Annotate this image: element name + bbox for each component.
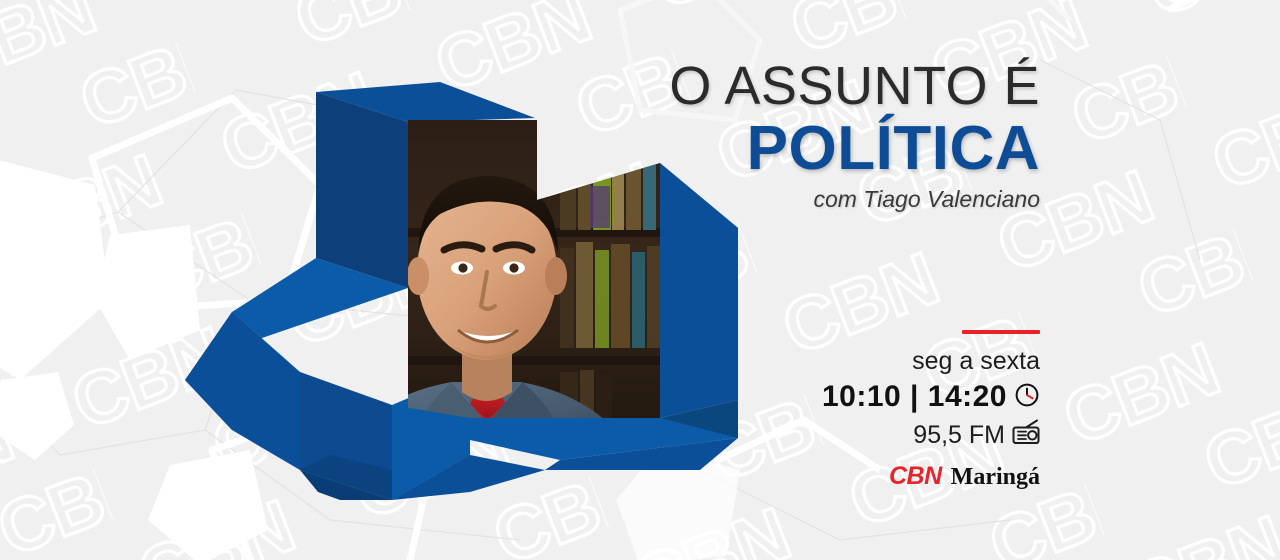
schedule-frequency: 95,5 FM <box>913 420 1005 450</box>
schedule-days: seg a sexta <box>740 346 1040 376</box>
red-divider-rule <box>962 330 1040 334</box>
clock-icon <box>1014 382 1040 413</box>
station-brand: CBN <box>889 462 942 491</box>
show-title-block: O ASSUNTO É POLÍTICA com Tiago Valencian… <box>520 56 1040 214</box>
show-title-line2: POLÍTICA <box>520 116 1040 182</box>
station-logo: CBN Maringá <box>740 462 1040 491</box>
station-city: Maringá <box>951 464 1040 491</box>
show-title-line1: O ASSUNTO É <box>520 56 1040 116</box>
schedule-times-row: 10:10 | 14:20 <box>740 380 1040 414</box>
schedule-block: seg a sexta 10:10 | 14:20 95,5 FM <box>740 330 1040 491</box>
schedule-times: 10:10 | 14:20 <box>822 380 1007 414</box>
radio-show-banner: CBN CBN <box>0 0 1280 560</box>
radio-icon <box>1012 419 1040 450</box>
show-host-subtitle: com Tiago Valenciano <box>520 184 1040 214</box>
schedule-frequency-row: 95,5 FM <box>740 419 1040 450</box>
